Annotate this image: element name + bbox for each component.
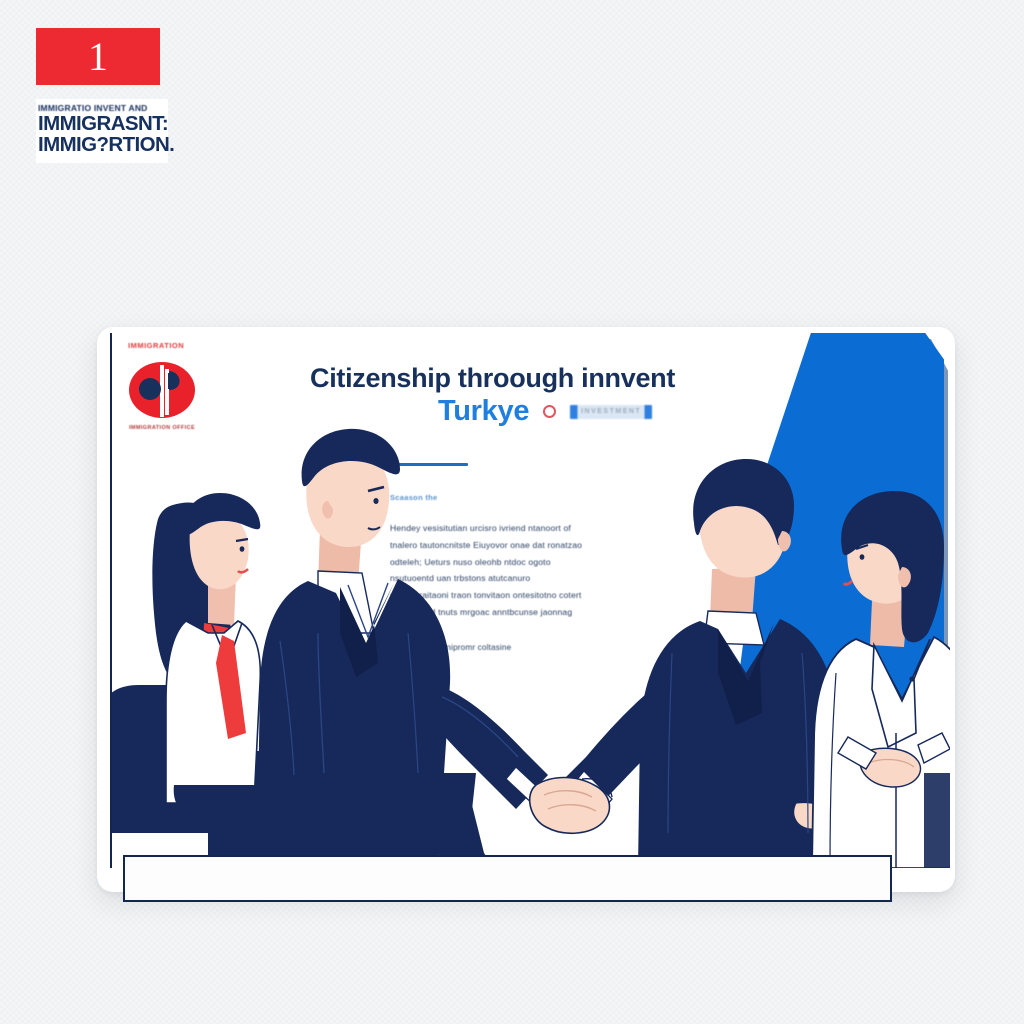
brand-line-2: IMMIG?RTION. [38, 134, 166, 155]
card-kicker-text: IMMIGRATION [128, 341, 184, 350]
body-paragraph: Hendey vesisitutian urcisro ivriend ntan… [390, 520, 586, 621]
title-divider [390, 463, 468, 466]
brand-wordmark: IMMIGRATIO INVENT AND IMMIGRASNT: IMMIG?… [36, 99, 168, 163]
bottom-outlined-bar [123, 855, 892, 902]
immigration-seal-logo [124, 357, 200, 431]
body-footnote: Le tovctor oe anipromr coltasine [390, 643, 586, 652]
card-title-line-1: Citizenship throough innvent [310, 363, 730, 393]
brand-number: 1 [88, 37, 108, 77]
title-pill-badge: INVESTMENT [570, 405, 652, 419]
body-section-label: Scaason the [390, 493, 586, 502]
card-body-column: Scaason the Hendey vesisitutian urcisro … [390, 493, 586, 652]
red-dot-icon [543, 405, 556, 418]
card-title-block: Citizenship throough innvent Turkye INVE… [310, 363, 730, 428]
card-title-line-2: Turkye [438, 395, 529, 428]
brand-block: 1 IMMIGRATIO INVENT AND IMMIGRASNT: IMMI… [36, 28, 168, 163]
logo-caption: IMMIGRATION OFFICE [126, 425, 198, 431]
card-title-row-2: Turkye INVESTMENT [310, 395, 730, 428]
presentation-card: IMMIGRATION IMMIGRATION OFFICE Citizensh… [110, 333, 950, 868]
blue-panel [736, 333, 944, 863]
brand-line-1: IMMIGRASNT: [38, 113, 166, 134]
brand-number-badge: 1 [36, 28, 160, 85]
